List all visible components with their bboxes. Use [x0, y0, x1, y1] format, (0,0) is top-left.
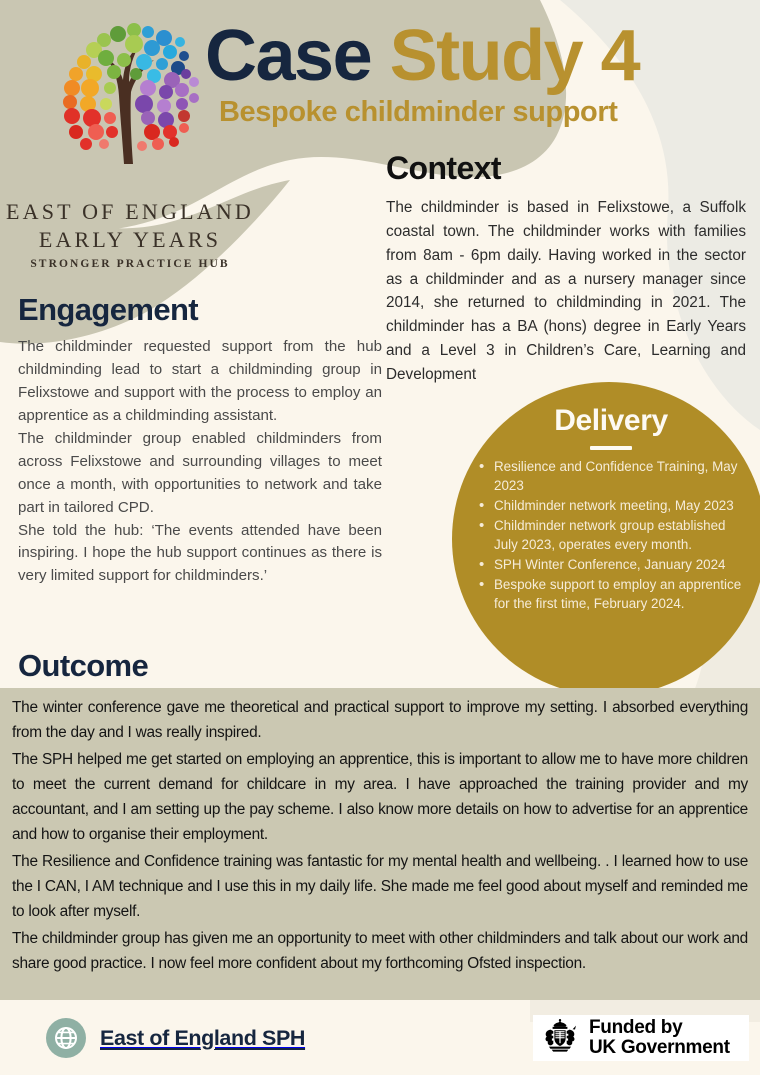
- brand-line-east-of-england: EAST OF ENGLAND: [0, 198, 260, 226]
- title-study-word: Study 4: [390, 16, 640, 96]
- uk-royal-crest-icon: [539, 1018, 581, 1058]
- funded-by-text: Funded by UK Government: [589, 1018, 730, 1058]
- sph-link-label: East of England SPH: [100, 1026, 305, 1051]
- outcome-heading: Outcome: [18, 648, 318, 684]
- engagement-paragraph: The childminder group enabled childminde…: [18, 428, 382, 520]
- delivery-list-item: Childminder network meeting, May 2023: [492, 496, 752, 515]
- delivery-list-item: Resilience and Confidence Training, May …: [492, 457, 752, 495]
- funded-by-uk-government-logo: Funded by UK Government: [533, 1015, 749, 1061]
- brand-line-early-years: EARLY YEARS: [0, 226, 260, 254]
- globe-icon-svg: [54, 1026, 78, 1050]
- engagement-section: Engagement The childminder requested sup…: [18, 292, 382, 588]
- delivery-list-item: Bespoke support to employ an apprentice …: [492, 575, 752, 613]
- case-study-poster: Case Study 4 Bespoke childminder support…: [0, 0, 760, 1075]
- context-body: The childminder is based in Felixstowe, …: [386, 196, 746, 387]
- context-paragraph: The childminder is based in Felixstowe, …: [386, 196, 746, 387]
- funded-by-line1: Funded by: [589, 1018, 730, 1038]
- engagement-paragraph: She told the hub: ‘The events attended h…: [18, 520, 382, 589]
- delivery-divider: [590, 446, 632, 450]
- title-block: Case Study 4 Bespoke childminder support: [205, 22, 760, 129]
- delivery-list: Resilience and Confidence Training, May …: [470, 457, 752, 613]
- funded-by-line2: UK Government: [589, 1038, 730, 1058]
- sph-website-link[interactable]: East of England SPH: [46, 1018, 305, 1058]
- organisation-brand-block: EAST OF ENGLAND EARLY YEARS STRONGER PRA…: [0, 198, 260, 270]
- dotted-tree-logo-icon: [48, 16, 208, 166]
- delivery-list-item: SPH Winter Conference, January 2024: [492, 555, 752, 574]
- globe-icon: [46, 1018, 86, 1058]
- engagement-body: The childminder requested support from t…: [18, 336, 382, 588]
- brand-line-stronger-practice-hub: STRONGER PRACTICE HUB: [0, 258, 260, 270]
- title-case-word: Case: [205, 16, 390, 96]
- page-subtitle: Bespoke childminder support: [219, 96, 760, 129]
- outcome-paragraph: The childminder group has given me an op…: [12, 927, 748, 977]
- delivery-section: Delivery Resilience and Confidence Train…: [452, 382, 760, 696]
- outcome-quotes-band: The winter conference gave me theoretica…: [0, 688, 760, 1000]
- context-section: Context The childminder is based in Feli…: [386, 150, 746, 387]
- outcome-paragraph: The winter conference gave me theoretica…: [12, 696, 748, 746]
- delivery-heading: Delivery: [470, 404, 752, 438]
- outcome-heading-wrap: Outcome: [18, 648, 318, 684]
- page-title: Case Study 4: [205, 22, 760, 90]
- context-heading: Context: [386, 150, 746, 187]
- outcome-paragraph: The SPH helped me get started on employi…: [12, 748, 748, 848]
- engagement-paragraph: The childminder requested support from t…: [18, 336, 382, 428]
- poster-header: Case Study 4 Bespoke childminder support: [0, 0, 760, 150]
- delivery-list-item: Childminder network group established Ju…: [492, 516, 752, 554]
- engagement-heading: Engagement: [18, 292, 382, 328]
- outcome-paragraph: The Resilience and Confidence training w…: [12, 850, 748, 925]
